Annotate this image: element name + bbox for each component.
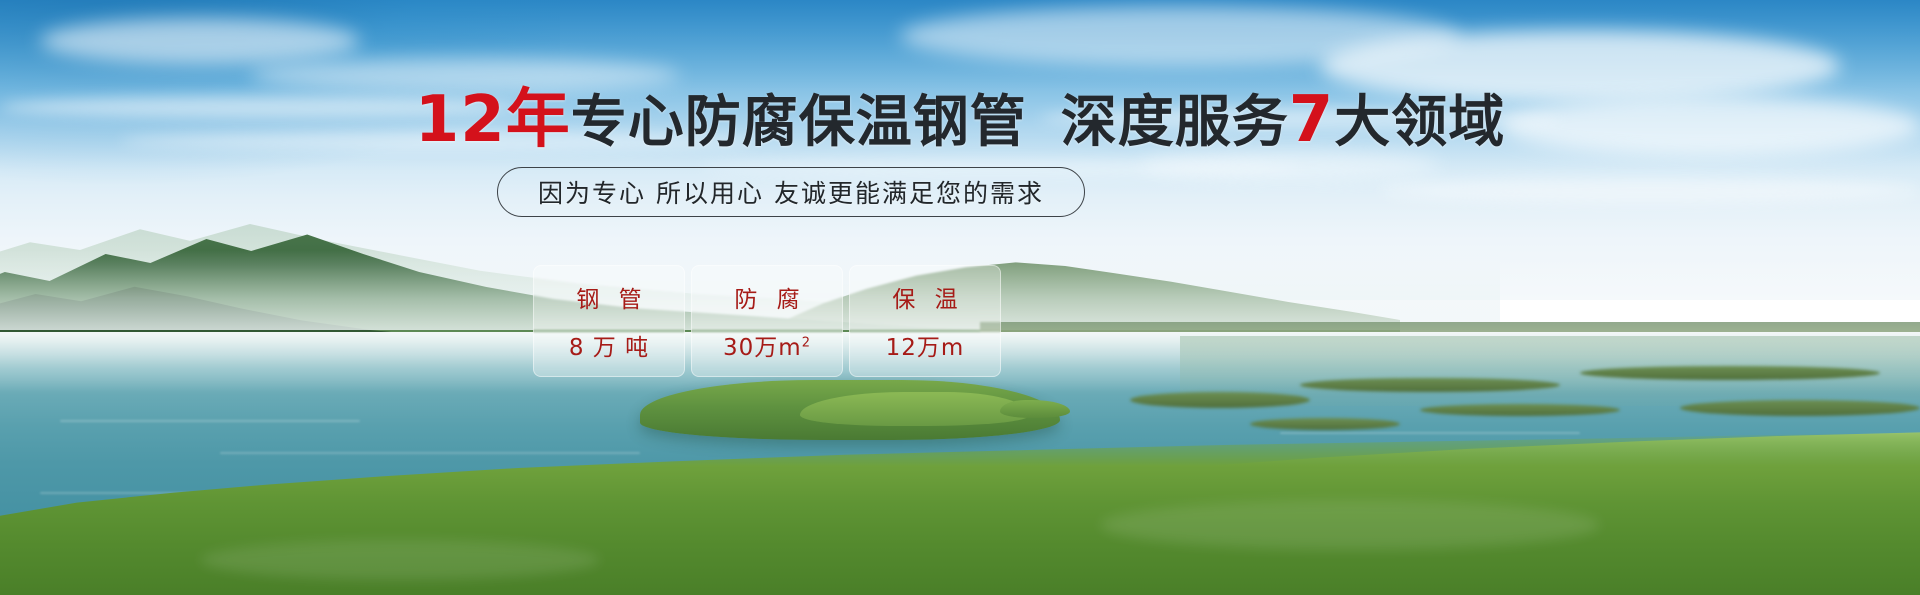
cloud-shape	[40, 18, 360, 64]
headline-fields-count: 7	[1289, 83, 1335, 157]
headline-segment-3: 大领域	[1334, 90, 1505, 155]
marsh-patch	[1300, 378, 1560, 392]
stat-card-list: 钢 管 8 万 吨 防 腐 30万m2 保 温 12万m	[533, 265, 1001, 377]
promo-banner: 12年专心防腐保温钢管深度服务7大领域 因为专心 所以用心 友诚更能满足您的需求…	[0, 0, 1920, 595]
marsh-patch	[1580, 366, 1880, 380]
headline-segment-1: 专心防腐保温钢管	[571, 90, 1027, 155]
cloud-wisp	[1380, 178, 1920, 202]
grass-texture	[200, 540, 600, 580]
stat-card-label: 钢 管	[570, 280, 647, 314]
headline-segment-2: 深度服务	[1061, 90, 1289, 155]
stat-value-text: 30万m	[723, 335, 802, 361]
stat-value-text: 12万m	[886, 335, 965, 361]
grass-island-tip	[1000, 400, 1070, 418]
stat-card-steel-pipe[interactable]: 钢 管 8 万 吨	[533, 265, 685, 377]
marsh-patch	[1420, 404, 1620, 416]
stat-card-value: 12万m	[886, 328, 965, 362]
stat-card-insulation[interactable]: 保 温 12万m	[849, 265, 1001, 377]
marsh-patch	[1250, 418, 1400, 430]
stat-card-value: 30万m2	[723, 328, 811, 362]
marsh-patch	[1680, 400, 1920, 416]
grass-island-secondary	[800, 392, 1030, 426]
stat-card-value: 8 万 吨	[569, 328, 649, 362]
water-ripple	[220, 452, 640, 454]
page-title: 12年专心防腐保温钢管深度服务7大领域	[0, 88, 1920, 152]
stat-value-text: 8 万 吨	[569, 335, 649, 361]
stat-value-sup: 2	[802, 335, 811, 350]
stat-card-label: 防 腐	[728, 280, 805, 314]
marsh-patch	[1130, 392, 1310, 408]
water-ripple	[60, 420, 360, 422]
grass-texture	[1100, 500, 1600, 550]
water-ripple	[1280, 432, 1580, 434]
stat-card-anticorrosion[interactable]: 防 腐 30万m2	[691, 265, 843, 377]
stat-card-label: 保 温	[886, 280, 963, 314]
subtitle-text: 因为专心 所以用心 友诚更能满足您的需求	[538, 174, 1044, 210]
headline-years: 12年	[415, 83, 571, 157]
subtitle-pill: 因为专心 所以用心 友诚更能满足您的需求	[497, 167, 1085, 217]
